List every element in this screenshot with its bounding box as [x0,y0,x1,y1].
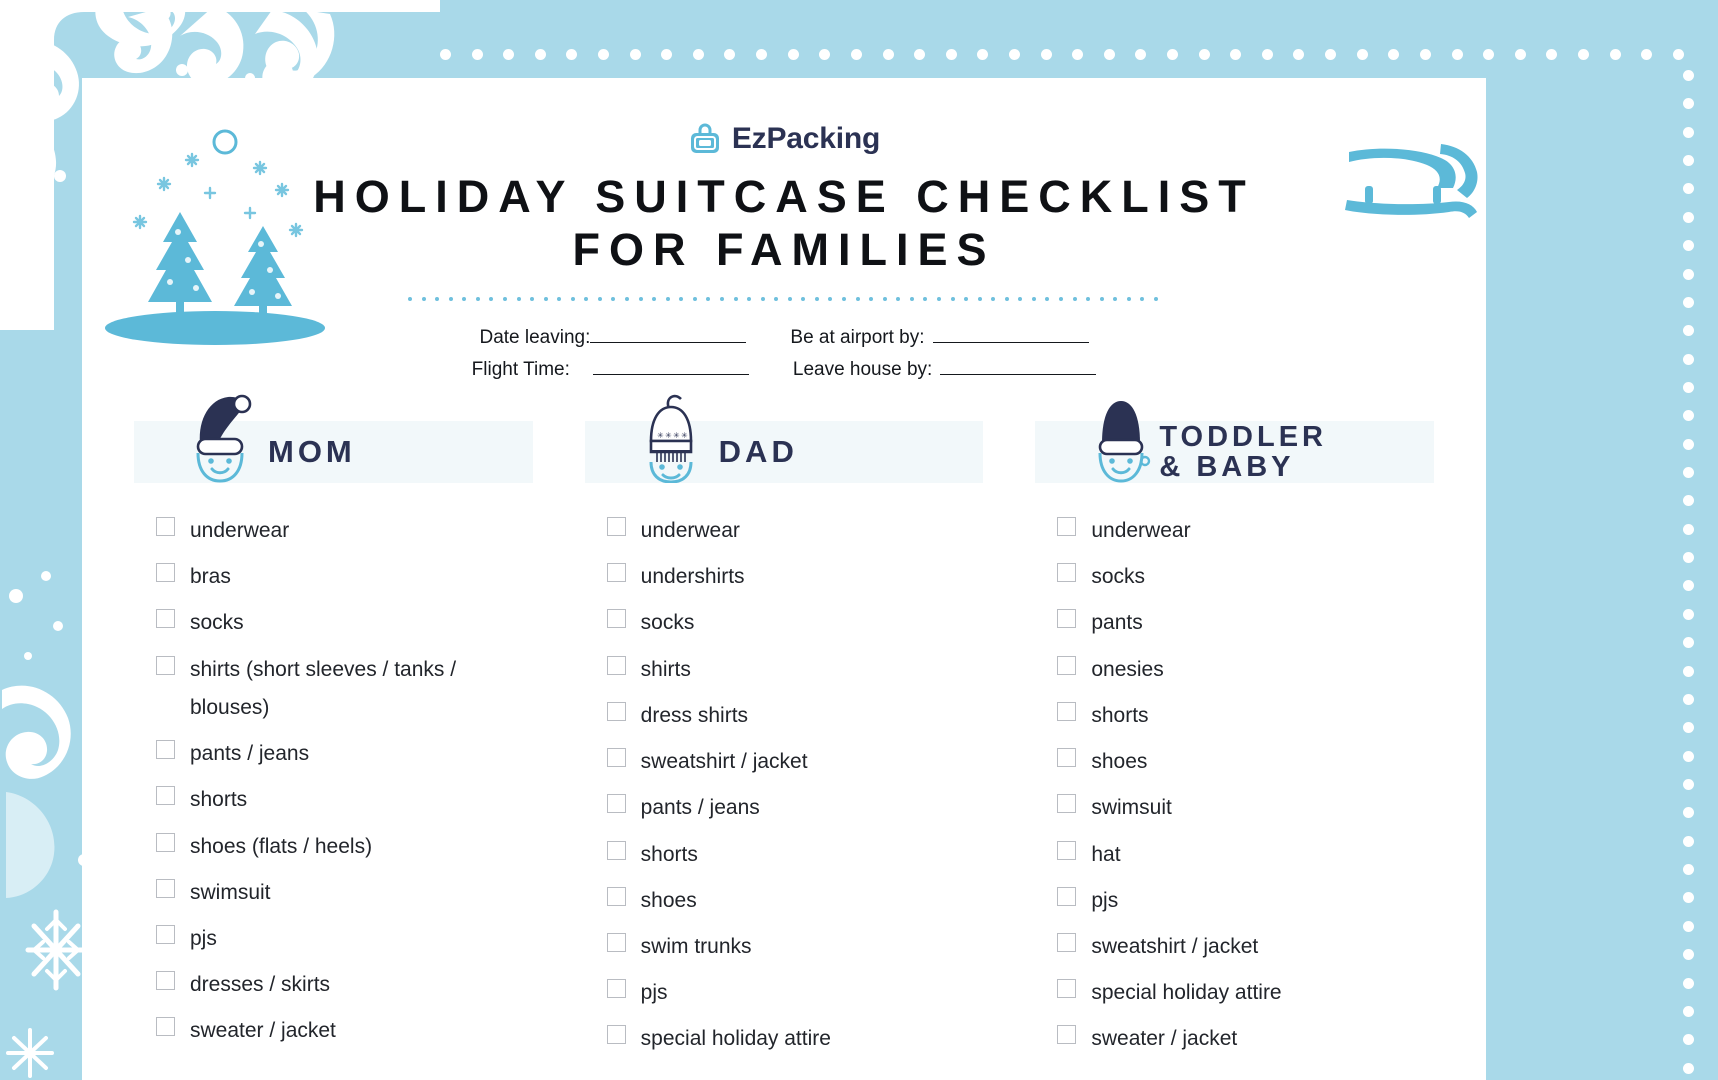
list-item[interactable]: sweatshirt / jacket [607,743,984,781]
item-label: underwear [1091,512,1190,550]
item-label: undershirts [641,558,745,596]
checkbox[interactable] [156,563,175,582]
item-label: special holiday attire [641,1020,831,1058]
column-toddler-baby: TODDLER & BABY underwear socks pants one… [1035,421,1434,1080]
checkbox[interactable] [156,925,175,944]
form-row-1: Date leaving: Be at airport by: [479,326,1088,349]
item-label: shorts [190,781,247,819]
list-item[interactable]: socks [1057,558,1434,596]
column-mom: MOM underwear bras socks shirts (short s… [134,421,533,1080]
checkbox[interactable] [607,1025,626,1044]
item-label: bras [190,558,231,596]
field-label: Be at airport by: [790,327,924,349]
field-label: Date leaving: [479,327,590,349]
item-label: shorts [641,836,698,874]
list-item[interactable]: sweatshirt / jacket [1057,928,1434,966]
checklist-columns: MOM underwear bras socks shirts (short s… [134,421,1434,1080]
checkbox[interactable] [156,740,175,759]
list-item[interactable]: pants / jeans [607,789,984,827]
item-label: hat [1091,836,1120,874]
field-input-line[interactable] [593,358,749,375]
svg-text:✳: ✳ [665,431,672,440]
list-item[interactable]: swimsuit [156,874,533,912]
checkbox[interactable] [1057,841,1076,860]
column-dad: ✳✳✳✳ DAD underwear undershirts socks shi… [585,421,984,1080]
item-label: pjs [1091,882,1118,920]
item-label: socks [1091,558,1145,596]
checkbox[interactable] [156,656,175,675]
checkbox[interactable] [607,887,626,906]
trip-details-form: Date leaving: Be at airport by: Flight T… [82,326,1486,381]
column-header-mom: MOM [134,421,533,483]
item-label: underwear [190,512,289,550]
item-label: sweater / jacket [1091,1020,1237,1058]
list-item[interactable]: dresses / skirts [156,966,533,1004]
item-label: swimsuit [1091,789,1172,827]
checkbox[interactable] [1057,656,1076,675]
field-label: Flight Time: [472,359,570,381]
list-item[interactable]: underwear [1057,512,1434,550]
field-input-line[interactable] [933,326,1089,343]
field-input-line[interactable] [590,326,746,343]
column-title: DAD [719,436,798,469]
checkbox[interactable] [1057,748,1076,767]
item-label: shirts [641,651,691,689]
list-item[interactable]: bras [156,558,533,596]
checklist-card: EzPacking HOLIDAY SUITCASE CHECKLIST FOR… [82,78,1486,1080]
item-label: shirts (short sleeves / tanks / blouses) [190,651,533,727]
list-item[interactable]: shorts [1057,697,1434,735]
list-item[interactable]: shoes [1057,743,1434,781]
brand-logo: EzPacking [82,122,1486,156]
item-label: sweatshirt / jacket [641,743,808,781]
field-label: Leave house by: [793,359,932,381]
list-item[interactable]: undershirts [607,558,984,596]
checkbox[interactable] [607,609,626,628]
checkbox[interactable] [1057,563,1076,582]
item-label: sweatshirt / jacket [1091,928,1258,966]
item-label: pants / jeans [641,789,760,827]
checkbox[interactable] [1057,609,1076,628]
list-item[interactable]: sweater / jacket [156,1012,533,1050]
field-leave-house-by[interactable]: Leave house by: [793,358,1096,381]
item-label: shorts [1091,697,1148,735]
checkbox[interactable] [156,786,175,805]
checklist-dad: underwear undershirts socks shirts dress… [585,512,984,1067]
item-label: shoes [1091,743,1147,781]
form-row-2: Flight Time: Leave house by: [472,358,1097,381]
item-label: underwear [641,512,740,550]
list-item[interactable]: hat [1057,836,1434,874]
field-date-leaving[interactable]: Date leaving: [479,326,746,349]
column-header-toddler-baby: TODDLER & BABY [1035,421,1434,483]
item-label: socks [190,604,244,642]
field-flight-time[interactable]: Flight Time: [472,358,749,381]
checkbox[interactable] [156,609,175,628]
list-item[interactable]: shirts (short sleeves / tanks / blouses) [156,651,533,727]
list-item[interactable]: shirts [607,651,984,689]
column-title: MOM [268,436,356,469]
checkbox[interactable] [607,841,626,860]
item-label: swimsuit [190,874,271,912]
checkbox[interactable] [1057,517,1076,536]
item-label: shoes [641,882,697,920]
brand-name: EzPacking [732,122,880,156]
checkbox[interactable] [1057,887,1076,906]
item-label: socks [641,604,695,642]
list-item[interactable]: sweater / jacket [1057,1020,1434,1058]
list-item[interactable]: underwear [156,512,533,550]
checkbox[interactable] [607,702,626,721]
list-item[interactable]: pjs [607,974,984,1012]
checkbox[interactable] [156,517,175,536]
list-item[interactable]: underwear [607,512,984,550]
list-item[interactable]: onesies [1057,651,1434,689]
checklist-toddler-baby: underwear socks pants onesies shorts sho… [1035,512,1434,1067]
checkbox[interactable] [1057,1025,1076,1044]
list-item[interactable]: pjs [1057,882,1434,920]
checklist-mom: underwear bras socks shirts (short sleev… [134,512,533,1059]
checkbox[interactable] [1057,979,1076,998]
field-input-line[interactable] [940,358,1096,375]
checkbox[interactable] [607,563,626,582]
item-label: dress shirts [641,697,748,735]
list-item[interactable]: pjs [156,920,533,958]
right-dot-border [1682,70,1694,1074]
list-item[interactable]: socks [156,604,533,642]
beanie-hat-face-icon: ✳✳✳✳ [635,391,707,483]
checkbox[interactable] [607,794,626,813]
item-label: onesies [1091,651,1163,689]
suitcase-icon [688,122,722,156]
item-label: dresses / skirts [190,966,330,1004]
list-item[interactable]: shorts [607,836,984,874]
list-item[interactable]: pants [1057,604,1434,642]
checkbox[interactable] [156,833,175,852]
dotted-divider [408,297,1158,301]
list-item[interactable]: shorts [156,781,533,819]
item-label: sweater / jacket [190,1012,336,1050]
field-be-at-airport-by[interactable]: Be at airport by: [790,326,1088,349]
svg-text:✳: ✳ [681,431,688,440]
column-title: TODDLER & BABY [1159,422,1327,483]
item-label: special holiday attire [1091,974,1281,1012]
page-title: HOLIDAY SUITCASE CHECKLIST FOR FAMILIES [82,170,1486,276]
list-item[interactable]: dress shirts [607,697,984,735]
santa-hat-face-icon [184,391,256,483]
checkbox[interactable] [607,748,626,767]
checkbox[interactable] [156,1017,175,1036]
list-item[interactable]: shoes (flats / heels) [156,828,533,866]
list-item[interactable]: socks [607,604,984,642]
winter-hat-face-icon [1085,391,1157,483]
item-label: swim trunks [641,928,752,966]
column-header-dad: ✳✳✳✳ DAD [585,421,984,483]
list-item[interactable]: special holiday attire [607,1020,984,1058]
checkbox[interactable] [1057,702,1076,721]
checkbox[interactable] [607,656,626,675]
checkbox[interactable] [607,979,626,998]
item-label: pjs [641,974,668,1012]
item-label: pjs [190,920,217,958]
checkbox[interactable] [156,971,175,990]
top-dot-border [440,48,1684,60]
svg-text:✳: ✳ [657,431,664,440]
svg-text:✳: ✳ [673,431,680,440]
item-label: pants [1091,604,1142,642]
list-item[interactable]: shoes [607,882,984,920]
item-label: shoes (flats / heels) [190,828,372,866]
checkbox[interactable] [1057,794,1076,813]
list-item[interactable]: pants / jeans [156,735,533,773]
checkbox[interactable] [607,517,626,536]
list-item[interactable]: swimsuit [1057,789,1434,827]
list-item[interactable]: swim trunks [607,928,984,966]
checkbox[interactable] [156,879,175,898]
checkbox[interactable] [1057,933,1076,952]
checkbox[interactable] [607,933,626,952]
list-item[interactable]: special holiday attire [1057,974,1434,1012]
item-label: pants / jeans [190,735,309,773]
